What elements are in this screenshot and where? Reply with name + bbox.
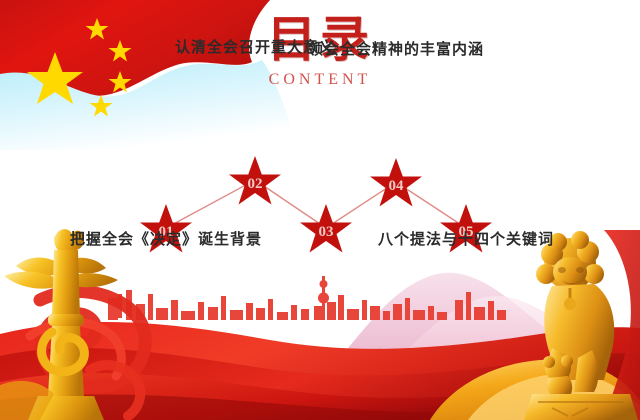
content-node-04[interactable]: 04 领会全会精神的丰富内涵 [369, 156, 423, 208]
content-node-03[interactable]: 03 [299, 202, 353, 254]
content-node-05[interactable]: 05 八个提法与十四个关键词 [439, 202, 493, 254]
page-subtitle: CONTENT [0, 70, 640, 90]
content-node-number: 03 [299, 202, 353, 254]
content-node-label: 八个提法与十四个关键词 [378, 228, 554, 249]
content-node-02[interactable]: 02 认清全会召开重大意义 [228, 154, 282, 206]
content-node-label: 把握全会《决定》诞生背景 [70, 228, 262, 249]
content-node-label: 领会全会精神的丰富内涵 [308, 38, 484, 59]
content-node-number: 04 [369, 156, 423, 208]
slide-canvas: 目录 CONTENT 01 把握全会《决定》诞生背景 02 认清全会召开重大意义 [0, 0, 640, 420]
content-node-01[interactable]: 01 把握全会《决定》诞生背景 [139, 202, 193, 254]
content-diagram: 01 把握全会《决定》诞生背景 02 认清全会召开重大意义 03 04 领会全会… [0, 120, 640, 290]
content-node-number: 02 [228, 154, 282, 206]
